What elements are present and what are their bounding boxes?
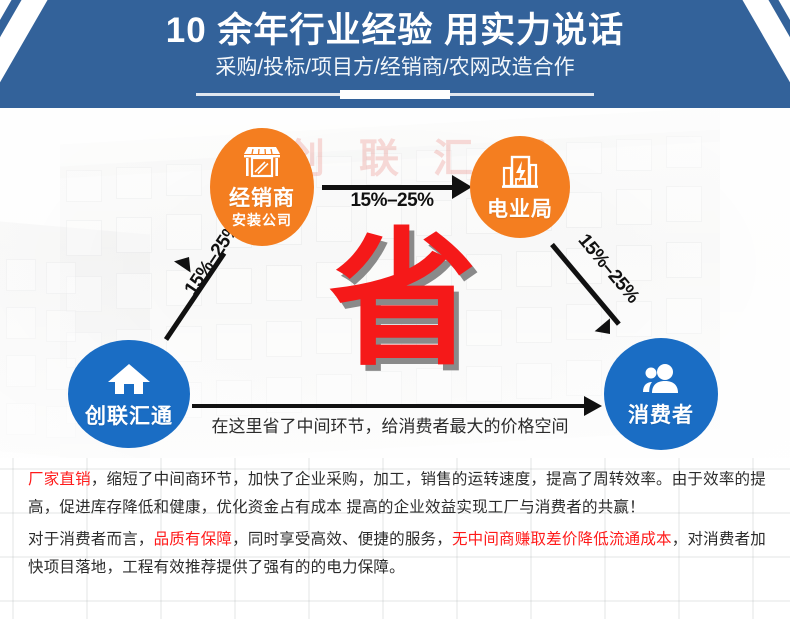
node-power-bureau[interactable]: 电业局	[470, 136, 570, 238]
users-icon	[639, 362, 683, 401]
center-save-character: 省 省	[318, 225, 488, 385]
header-subtitle: 采购/投标/项目方/经销商/农网改造合作	[0, 55, 790, 81]
node-consumer-label: 消费者	[628, 404, 694, 427]
arrow-company-to-consumer	[192, 404, 586, 408]
center-save-character-front: 省	[318, 225, 488, 375]
node-dealer-label: 经销商	[229, 187, 295, 210]
node-company-label: 创联汇通	[85, 405, 173, 428]
arrow-label-dealer-to-bureau: 15%–25%	[332, 190, 452, 212]
paragraph-two-highlight-two: 无中间商赚取差价降低流通成本	[452, 531, 672, 548]
arrow-label-company-to-consumer: 在这里省了中间环节，给消费者最大的价格空间	[180, 412, 600, 437]
paragraph-one: 厂家直销，缩短了中间商环节，加快了企业采购，加工，销售的运转速度，提高了周转效率…	[28, 466, 766, 522]
home-icon	[106, 361, 152, 402]
arrowhead-dealer-to-bureau	[452, 175, 472, 199]
header-divider-center	[340, 90, 450, 99]
shop-icon	[240, 145, 284, 184]
paragraph-two-highlight-one: 品质有保障	[154, 531, 233, 548]
background-guide-line	[12, 458, 14, 619]
header-banner: 10 余年行业经验 用实力说话 采购/投标/项目方/经销商/农网改造合作	[0, 0, 790, 108]
paragraph-two: 对于消费者而言，品质有保障，同时享受高效、便捷的服务，无中间商赚取差价降低流通成…	[28, 526, 766, 582]
node-dealer-sublabel: 安装公司	[232, 212, 292, 229]
description-section: 厂家直销，缩短了中间商环节，加快了企业采购，加工，销售的运转速度，提高了周转效率…	[0, 458, 790, 619]
paragraph-two-part1: 对于消费者而言，	[28, 531, 154, 548]
node-power-bureau-label: 电业局	[487, 198, 553, 221]
paragraph-one-highlight: 厂家直销	[28, 471, 91, 488]
background-guide-line	[0, 600, 790, 602]
promo-banner: 10 余年行业经验 用实力说话 采购/投标/项目方/经销商/农网改造合作 创联汇…	[0, 0, 790, 619]
power-plant-icon	[500, 154, 540, 195]
header-title: 10 余年行业经验 用实力说话	[0, 10, 790, 52]
paragraph-one-rest: ，缩短了中间商环节，加快了企业采购，加工，销售的运转速度，提高了周转效率。由于效…	[28, 471, 766, 516]
node-dealer[interactable]: 经销商 安装公司	[210, 128, 314, 246]
node-consumer[interactable]: 消费者	[604, 338, 718, 450]
node-company[interactable]: 创联汇通	[68, 340, 190, 448]
paragraph-two-part2: ，同时享受高效、便捷的服务，	[232, 531, 452, 548]
